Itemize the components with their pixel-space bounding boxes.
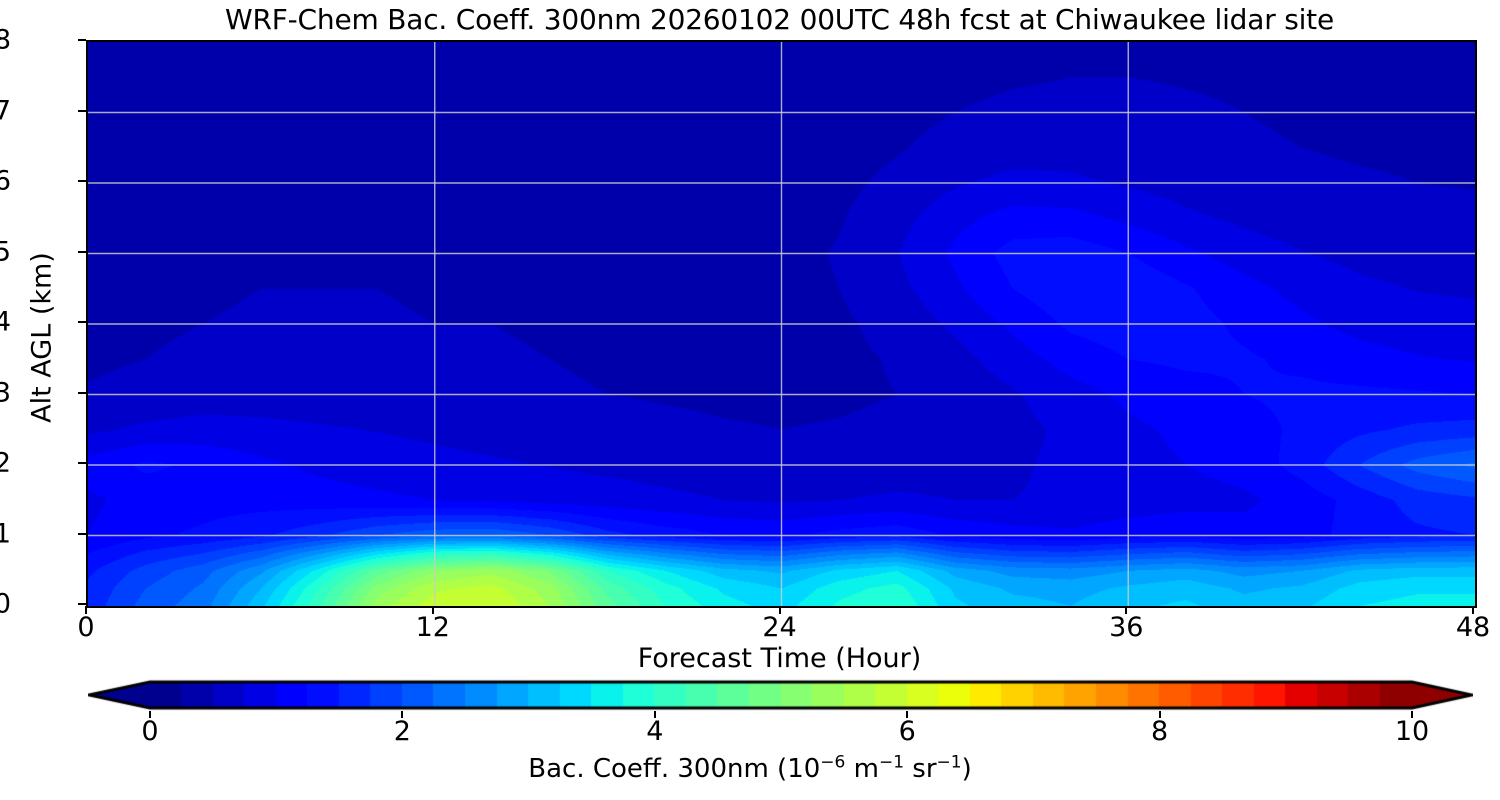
colorbar-tick-mark [401,711,403,718]
y-tick-label: 7 [0,95,11,126]
figure-root: WRF-Chem Bac. Coeff. 300nm 20260102 00UT… [0,0,1500,800]
x-tick-label: 48 [1456,612,1490,643]
colorbar-exponent-1: −6 [820,752,845,772]
colorbar-tick-mark [1411,711,1413,718]
y-tick-mark [78,533,86,535]
y-axis-title: Alt AGL (km) [27,188,58,488]
colorbar-tick-mark [1159,711,1161,718]
colorbar-title-end: ) [962,754,972,784]
colorbar-exponent-2: −1 [879,752,904,772]
y-tick-mark [78,392,86,394]
colorbar-tick-label: 0 [141,716,158,747]
y-tick-mark [78,110,86,112]
y-tick-label: 3 [0,377,11,408]
y-tick-label: 8 [0,25,11,56]
x-tick-label: 0 [77,612,94,643]
colorbar-gradient [88,679,1473,711]
x-tick-mark [85,606,87,614]
y-tick-label: 0 [0,589,11,620]
y-tick-label: 5 [0,236,11,267]
y-tick-mark [78,603,86,605]
x-tick-label: 24 [762,612,796,643]
y-tick-label: 4 [0,307,11,338]
y-tick-mark [78,321,86,323]
colorbar-tick-label: 10 [1395,716,1429,747]
colorbar-title-mid: m [845,754,879,784]
colorbar-tick-label: 8 [1151,716,1168,747]
y-tick-mark [78,180,86,182]
y-tick-mark [78,39,86,41]
colorbar [88,679,1473,711]
colorbar-exponent-3: −1 [937,752,962,772]
x-tick-mark [1125,606,1127,614]
colorbar-tick-label: 4 [646,716,663,747]
colorbar-tick-label: 2 [394,716,411,747]
y-tick-mark [78,251,86,253]
colorbar-tick-label: 6 [899,716,916,747]
y-tick-mark [78,462,86,464]
x-tick-label: 12 [416,612,450,643]
colorbar-tick-mark [654,711,656,718]
contour-plot-axes [86,40,1477,608]
backscatter-contour-field [88,42,1475,606]
x-tick-mark [779,606,781,614]
x-tick-mark [1472,606,1474,614]
page-title: WRF-Chem Bac. Coeff. 300nm 20260102 00UT… [86,4,1473,36]
y-tick-label: 1 [0,518,11,549]
x-tick-label: 36 [1109,612,1143,643]
colorbar-tick-mark [149,711,151,718]
colorbar-title-main: Bac. Coeff. 300nm (10 [528,754,820,784]
y-tick-label: 2 [0,448,11,479]
x-axis-title: Forecast Time (Hour) [86,643,1473,674]
colorbar-title: Bac. Coeff. 300nm (10−6 m−1 sr−1) [0,754,1500,784]
colorbar-tick-mark [906,711,908,718]
colorbar-title-sr: sr [904,754,937,784]
y-tick-label: 6 [0,166,11,197]
x-tick-mark [432,606,434,614]
